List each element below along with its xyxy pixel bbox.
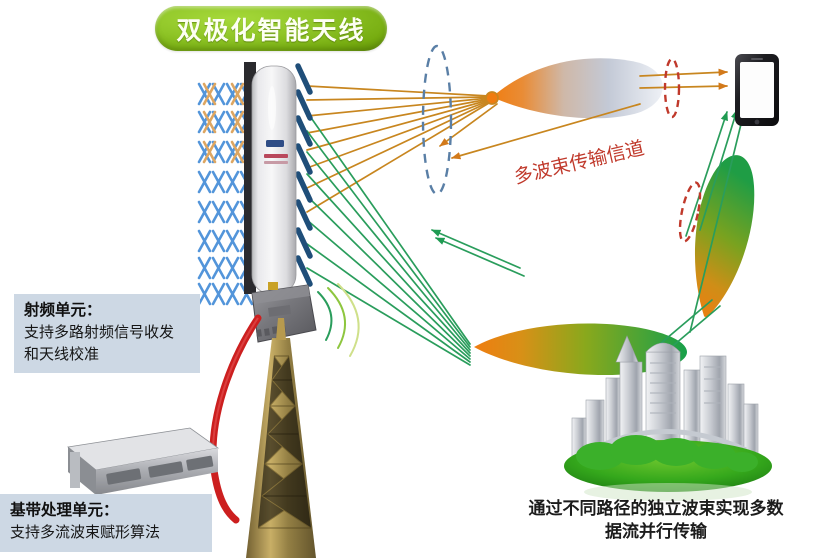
dual-polarized-antenna-radome — [244, 62, 296, 294]
diagram-title-pill: 双极化智能天线 — [155, 6, 387, 51]
rf-unit-line1: 支持多路射频信号收发 — [24, 322, 190, 343]
diagram-canvas: 双极化智能天线 射频单元： 支持多路射频信号收发 和天线校准 基带处理单元： 支… — [0, 0, 828, 558]
rf-unit-heading: 射频单元： — [24, 300, 190, 322]
smartphone-receiver — [735, 54, 779, 126]
beamforming-scene — [0, 0, 828, 558]
bottom-caption-line2: 据流并行传输 — [488, 521, 824, 544]
bottom-caption-line1: 通过不同路径的独立波束实现多数 — [488, 498, 824, 521]
rf-unit-line2: 和天线校准 — [24, 344, 190, 365]
rf-unit-info-box: 射频单元： 支持多路射频信号收发 和天线校准 — [14, 294, 200, 373]
baseband-unit-heading: 基带处理单元： — [10, 500, 202, 522]
baseband-server-unit — [68, 428, 218, 495]
lattice-antenna-tower — [246, 318, 316, 558]
baseband-unit-line1: 支持多流波束赋形算法 — [10, 522, 202, 543]
page-title: 双极化智能天线 — [176, 11, 365, 47]
baseband-unit-info-box: 基带处理单元： 支持多流波束赋形算法 — [0, 494, 212, 552]
rf-cable — [213, 318, 258, 520]
beam-lobes — [474, 58, 754, 375]
green-ray-bundle — [307, 110, 742, 365]
upper-beam-lobe — [492, 58, 663, 118]
bottom-caption: 通过不同路径的独立波束实现多数 据流并行传输 — [488, 498, 824, 543]
